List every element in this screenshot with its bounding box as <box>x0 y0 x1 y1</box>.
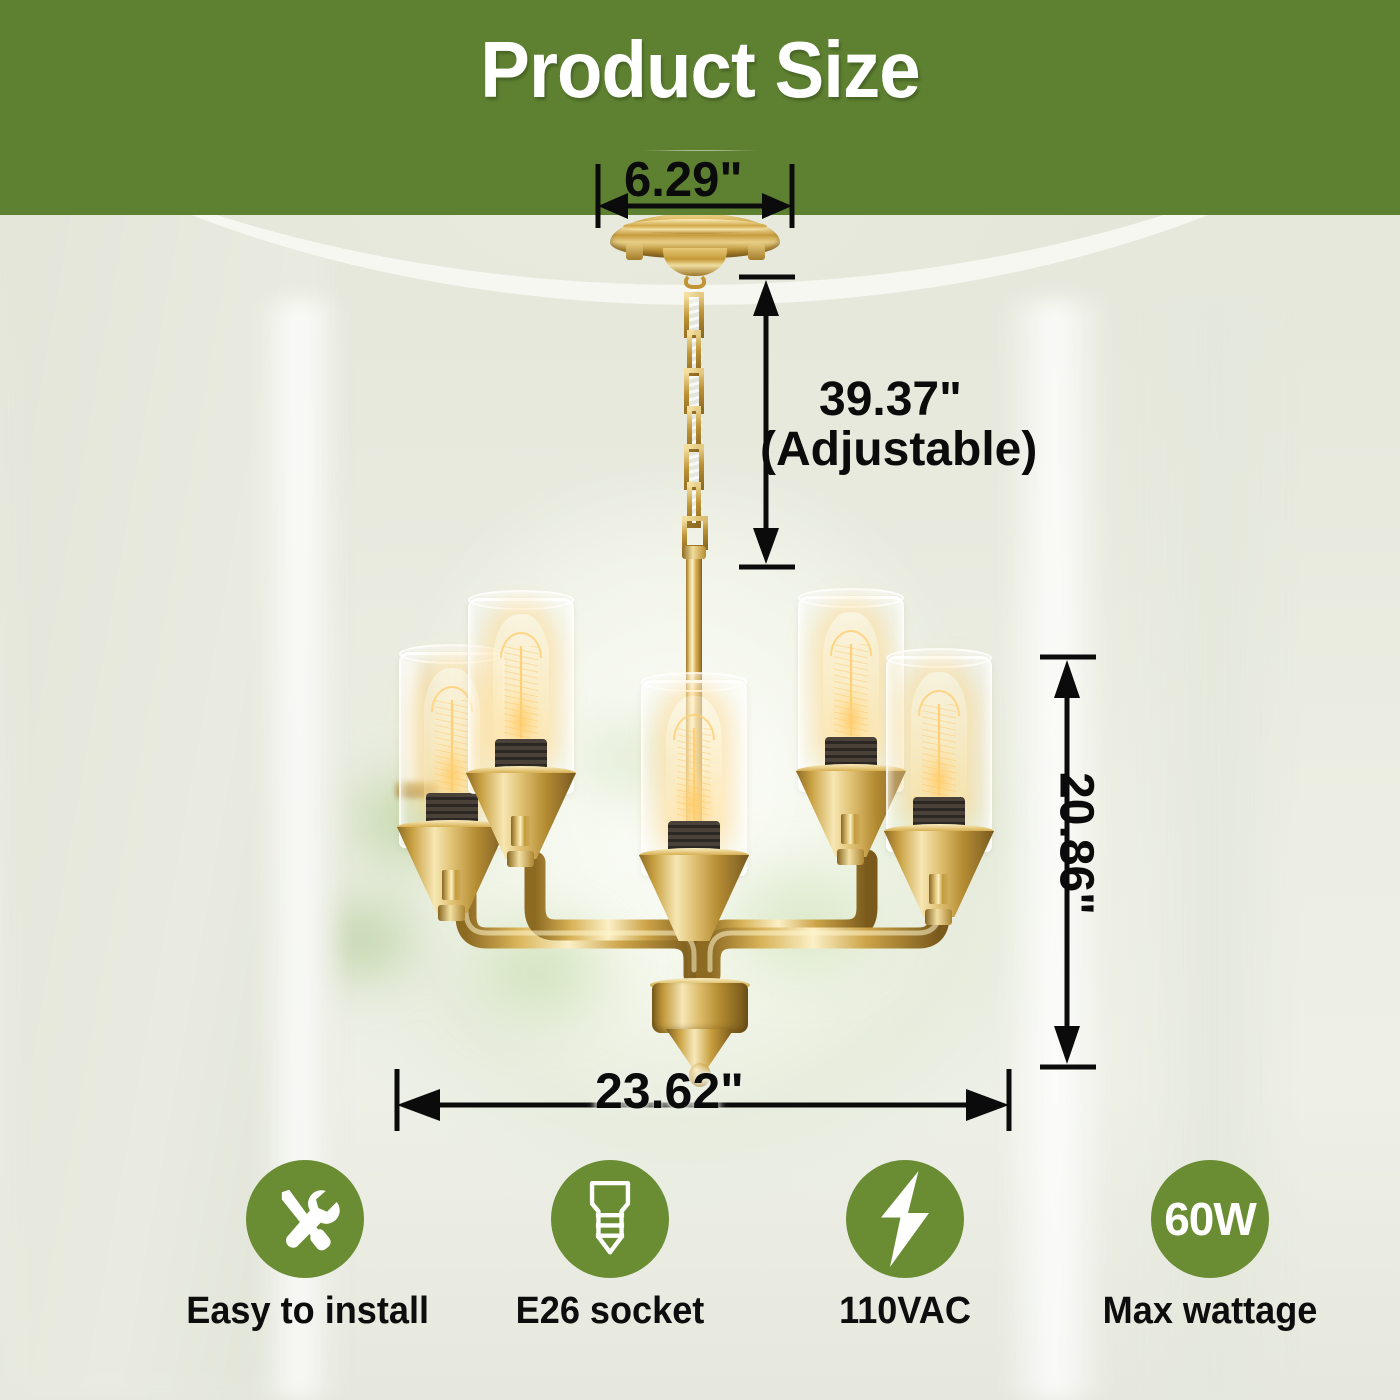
tools-icon <box>266 1180 344 1258</box>
dimension-chain-drop-line2: (Adjustable) <box>760 422 1037 477</box>
bulb-filament <box>435 700 469 792</box>
bulb-filament <box>504 646 538 738</box>
dimension-canopy-width: 6.29" <box>580 160 810 230</box>
wattage-icon: 60W <box>1164 1192 1256 1246</box>
feature-badge-circle <box>846 1160 964 1278</box>
arm-stem <box>511 816 530 846</box>
feature-e26-socket[interactable]: E26 socket <box>485 1160 735 1333</box>
product-size-infographic: Product Size <box>0 0 1400 1400</box>
lightning-bolt-icon <box>870 1171 940 1267</box>
arm-stem <box>442 870 461 900</box>
bulb-filament <box>922 704 956 796</box>
bulb-filament <box>677 728 711 820</box>
feature-badge-circle <box>246 1160 364 1278</box>
page-title: Product Size <box>49 24 1351 116</box>
glass-shade-rim <box>641 672 747 692</box>
feature-label: Easy to install <box>186 1290 424 1333</box>
dimension-fixture-width: 23.62" <box>392 1065 1014 1135</box>
glass-shade-rim <box>468 590 574 610</box>
bulb-socket-icon <box>574 1178 646 1260</box>
feature-label: Max wattage <box>1091 1290 1329 1333</box>
feature-easy-to-install[interactable]: Easy to install <box>180 1160 430 1333</box>
arm-collar <box>507 851 534 867</box>
bulb-filament <box>834 644 868 736</box>
feature-label: E26 socket <box>491 1290 729 1333</box>
arm-collar <box>925 909 952 925</box>
dimension-chain-drop-line1: 39.37" <box>819 372 962 427</box>
dimension-canopy-width-label: 6.29" <box>624 152 743 208</box>
glass-shade-rim <box>798 588 904 608</box>
dimension-chain-drop: 39.37" (Adjustable) <box>737 272 797 572</box>
feature-max-wattage[interactable]: 60W Max wattage <box>1085 1160 1335 1333</box>
arm-collar <box>837 849 864 865</box>
arm-collar <box>438 905 465 921</box>
feature-110vac[interactable]: 110VAC <box>780 1160 1030 1333</box>
arm-stem <box>929 874 948 904</box>
glass-shade-rim <box>886 648 992 668</box>
dimension-fixture-height-label: 20.86" <box>1049 729 1104 959</box>
arm-stem <box>841 814 860 844</box>
feature-badge-circle <box>551 1160 669 1278</box>
dimension-fixture-height: 20.86" <box>1038 652 1098 1072</box>
feature-label: 110VAC <box>786 1290 1024 1333</box>
dimension-fixture-width-label: 23.62" <box>595 1062 744 1120</box>
body-cup <box>652 983 748 1033</box>
feature-badges-row: Easy to install E26 socket <box>0 1150 1400 1400</box>
feature-badge-circle: 60W <box>1151 1160 1269 1278</box>
